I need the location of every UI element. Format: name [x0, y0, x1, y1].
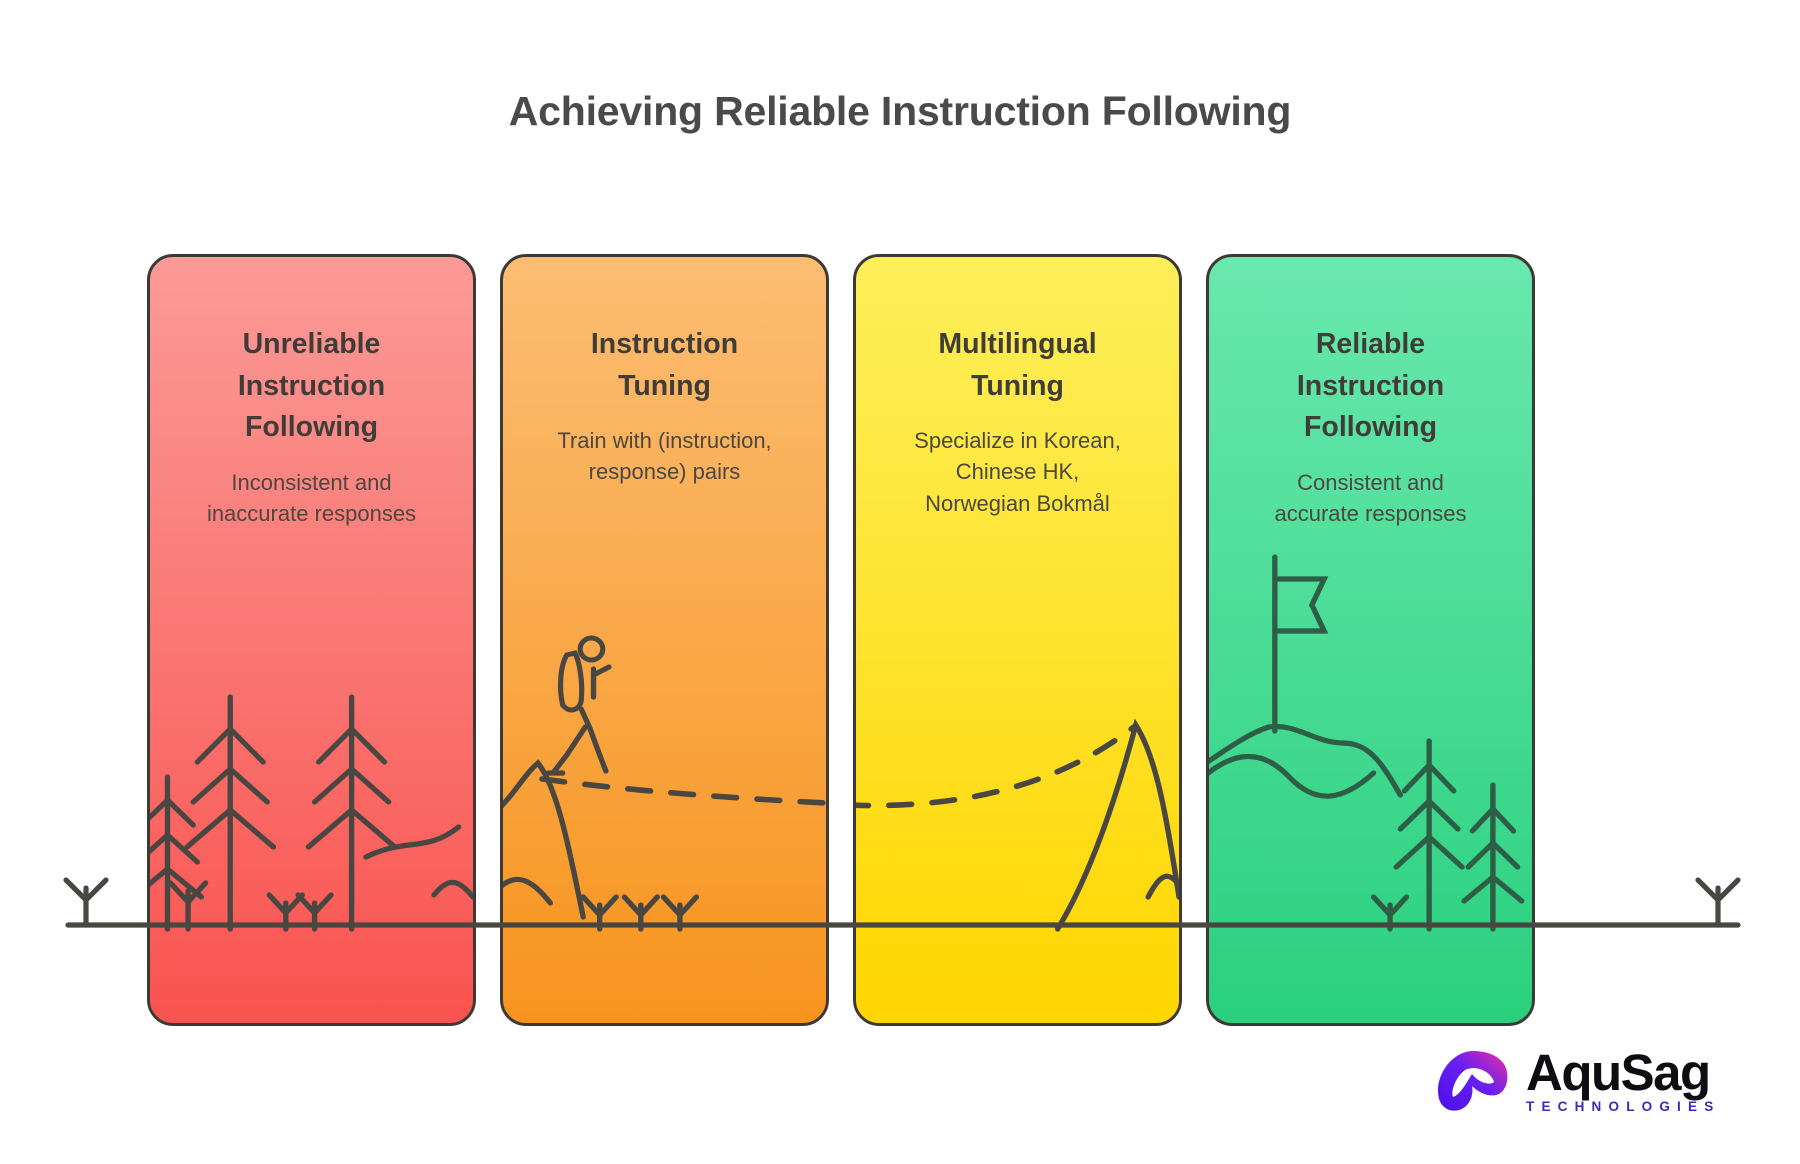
page-title: Achieving Reliable Instruction Following	[0, 88, 1800, 135]
stage-card-row: Unreliable Instruction Following Inconsi…	[147, 254, 1535, 1026]
stage-card-title: Instruction Tuning	[529, 324, 800, 407]
stage-card-instruction-tuning[interactable]: Instruction Tuning Train with (instructi…	[500, 254, 829, 1026]
logo-tagline: TECHNOLOGIES	[1526, 1099, 1720, 1114]
dashed-trail-icon	[542, 779, 826, 803]
pine-tree-icon	[1464, 785, 1522, 929]
stage-card-text: Instruction Tuning Train with (instructi…	[503, 324, 826, 488]
shrub-icon	[66, 880, 106, 925]
shrub-icon	[1374, 897, 1407, 929]
dashed-trail-icon	[856, 727, 1134, 806]
stage-card-title: Unreliable Instruction Following	[176, 324, 447, 449]
shrub-icon	[624, 897, 657, 929]
infographic-canvas: Achieving Reliable Instruction Following	[0, 0, 1800, 1164]
shrub-icon	[583, 897, 616, 929]
flag-icon	[1275, 557, 1324, 731]
mountain-icon	[1058, 725, 1179, 929]
stage-card-subtitle: Inconsistent and inaccurate responses	[176, 467, 447, 529]
shrub-icon	[171, 883, 206, 929]
shrub-icon	[1698, 880, 1738, 925]
shrub-icon	[298, 895, 331, 929]
aqusag-logo-mark	[1434, 1046, 1512, 1116]
stage-card-title: Reliable Instruction Following	[1235, 324, 1506, 449]
hill-ridge	[1148, 876, 1179, 897]
stage-card-text: Unreliable Instruction Following Inconsi…	[150, 324, 473, 529]
stage-card-title: Multilingual Tuning	[882, 324, 1153, 407]
hiker-icon	[548, 638, 609, 773]
stage-card-unreliable-instruction-following[interactable]: Unreliable Instruction Following Inconsi…	[147, 254, 476, 1026]
shrub-icon	[269, 895, 302, 929]
mountain-icon	[1209, 726, 1400, 795]
logo-wordmark: AquSag TECHNOLOGIES	[1526, 1048, 1720, 1115]
shrub-icon	[663, 897, 696, 929]
pine-tree-icon	[308, 697, 394, 929]
hill-ridge	[434, 882, 473, 897]
stage-card-multilingual-tuning[interactable]: Multilingual Tuning Specialize in Korean…	[853, 254, 1182, 1026]
brand-logo: AquSag TECHNOLOGIES	[1434, 1046, 1720, 1116]
logo-name: AquSag	[1526, 1048, 1720, 1098]
hill-ridge	[1209, 756, 1374, 796]
hill-ridge	[503, 879, 550, 907]
stage-card-reliable-instruction-following[interactable]: Reliable Instruction Following Consisten…	[1206, 254, 1535, 1026]
stage-card-subtitle: Specialize in Korean, Chinese HK, Norweg…	[882, 425, 1153, 519]
stage-card-subtitle: Train with (instruction, response) pairs	[529, 425, 800, 487]
stage-card-text: Reliable Instruction Following Consisten…	[1209, 324, 1532, 529]
stage-card-subtitle: Consistent and accurate responses	[1235, 467, 1506, 529]
stage-card-text: Multilingual Tuning Specialize in Korean…	[856, 324, 1179, 519]
